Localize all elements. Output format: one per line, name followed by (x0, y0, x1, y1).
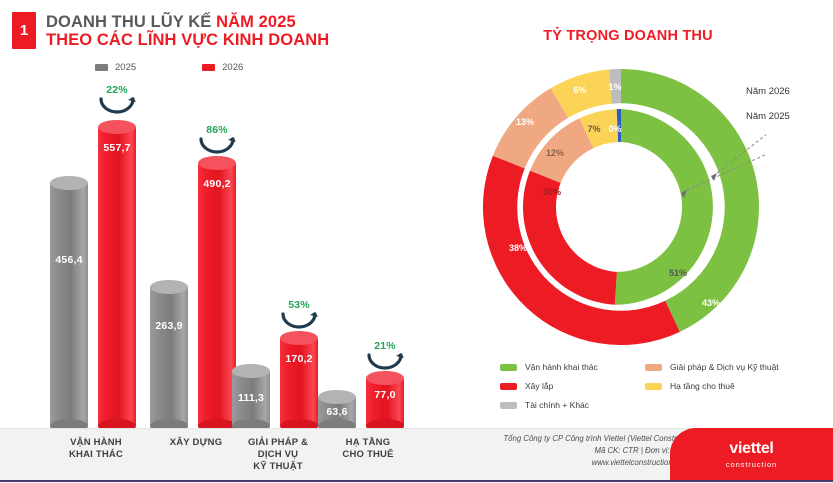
page-title-line2: THEO CÁC LĨNH VỰC KINH DOANH (46, 31, 329, 49)
viettel-construction-logo: viettel construction (670, 428, 833, 482)
inner-label-12: 12% (546, 148, 564, 158)
growth-badge-22: 22% (90, 84, 144, 114)
callout-arrow-outer (711, 173, 717, 181)
outer-label-13: 13% (516, 117, 534, 127)
footer-company-note: Tổng Công ty CP Công trình Viettel (Viet… (410, 433, 700, 469)
outer-label-43: 43% (702, 298, 720, 308)
bar-group-xay-dung: 263,9 490,2 86% (150, 86, 242, 426)
bar-group-ha-tang-cho-thue: 63,6 77,0 21% (318, 86, 410, 426)
donut-chart-legend: Vận hành khai thác Giải pháp & Dịch vụ K… (500, 362, 820, 410)
bar-group-giai-phap-dich-vu: 111,3 170,2 53% (232, 86, 324, 426)
x-label-giai-phap-dich-vu: GIẢI PHÁP &DỊCH VỤKỸ THUẬT (230, 437, 326, 473)
outer-label-1: 1% (608, 82, 621, 92)
x-label-ha-tang-cho-thue: HẠ TẦNGCHO THUÊ (322, 437, 414, 461)
growth-value-22: 22% (90, 84, 144, 96)
callout-label-nam-2025: Năm 2025 (746, 111, 790, 122)
donut-legend-label-xay-lap: Xây lắp (525, 381, 553, 391)
bar-value-456-4: 456,4 (50, 254, 88, 266)
page-title-line1: DOANH THU LŨY KẾ NĂM 2025 (46, 13, 329, 31)
bar-group-van-hanh-khai-thac: 456,4 557,7 22% (50, 86, 142, 426)
inner-label-51: 51% (669, 268, 687, 278)
logo-subtitle: construction (726, 460, 777, 469)
donut-legend-swatch-xay-lap (500, 383, 517, 390)
donut-svg: 43% 38% 13% 6% 1% 51% 30% 12% 7% 0% (476, 62, 766, 352)
bar-2026-xay-dung: 490,2 (198, 156, 236, 426)
donut-legend-label-tai-chinh: Tài chính + Khác (525, 400, 589, 410)
bar-chart-legend: 2025 2026 (95, 62, 243, 73)
title-gray-part: DOANH THU LŨY KẾ (46, 13, 216, 31)
donut-legend-item-ha-tang: Hạ tầng cho thuê (645, 381, 820, 391)
slide-header: 1 DOANH THU LŨY KẾ NĂM 2025 THEO CÁC LĨN… (12, 12, 329, 50)
bar-value-263-9: 263,9 (150, 320, 188, 332)
donut-legend-label-van-hanh: Vận hành khai thác (525, 362, 598, 372)
growth-badge-21: 21% (358, 340, 412, 370)
bar-value-77-0: 77,0 (366, 389, 404, 401)
bar-value-63-6: 63,6 (318, 406, 356, 418)
growth-arrow-icon (279, 312, 319, 329)
bar-2025-giai-phap: 111,3 (232, 364, 270, 426)
legend-label-2025: 2025 (115, 62, 136, 73)
donut-legend-swatch-tai-chinh (500, 402, 517, 409)
bar-2025-ha-tang: 63,6 (318, 390, 356, 426)
bar-2026-giai-phap: 170,2 (280, 331, 318, 426)
donut-legend-swatch-giai-phap (645, 364, 662, 371)
donut-chart-title: TỶ TRỌNG DOANH THU (478, 28, 778, 44)
footer-line-company: Tổng Công ty CP Công trình Viettel (Viet… (410, 433, 700, 445)
growth-arrow-icon (197, 137, 237, 154)
donut-legend-item-giai-phap: Giải pháp & Dịch vụ Kỹ thuật (645, 362, 820, 372)
callout-label-nam-2026: Năm 2026 (746, 86, 790, 97)
growth-arrow-icon (365, 353, 405, 370)
legend-swatch-2025 (95, 64, 108, 71)
bar-value-111-3: 111,3 (232, 392, 270, 404)
legend-item-2026: 2026 (202, 62, 243, 73)
x-label-xay-dung: XÂY DỰNG (150, 437, 242, 449)
bar-value-170-2: 170,2 (280, 353, 318, 365)
revenue-share-donut-chart: 43% 38% 13% 6% 1% 51% 30% 12% 7% 0% (476, 62, 766, 352)
bar-value-490-2: 490,2 (198, 178, 236, 190)
bar-2026-van-hanh: 557,7 (98, 120, 136, 426)
growth-arrow-icon (97, 97, 137, 114)
title-red-part: NĂM 2025 (216, 13, 296, 31)
inner-slice-van-hanh (615, 109, 713, 305)
revenue-bar-chart: 456,4 557,7 22% 263,9 490,2 (22, 86, 422, 426)
title-block: DOANH THU LŨY KẾ NĂM 2025 THEO CÁC LĨNH … (46, 12, 329, 50)
logo-wordmark: viettel (729, 441, 773, 457)
bar-2025-xay-dung: 263,9 (150, 280, 188, 426)
donut-legend-label-ha-tang: Hạ tầng cho thuê (670, 381, 735, 391)
x-axis-labels: VẬN HÀNHKHAI THÁC XÂY DỰNG GIẢI PHÁP &DỊ… (22, 429, 422, 483)
donut-legend-swatch-ha-tang (645, 383, 662, 390)
x-label-van-hanh-khai-thac: VẬN HÀNHKHAI THÁC (50, 437, 142, 461)
donut-legend-swatch-van-hanh (500, 364, 517, 371)
donut-legend-item-xay-lap: Xây lắp (500, 381, 645, 391)
inner-label-7: 7% (587, 124, 600, 134)
footer-line-ticker: Mã CK: CTR | Đơn vị: Tỷ đồng (410, 445, 700, 457)
footer-line-website: www.viettelconstruction.com.vn (410, 457, 700, 469)
legend-item-2025: 2025 (95, 62, 136, 73)
outer-label-38: 38% (509, 243, 527, 253)
section-number-badge: 1 (12, 12, 36, 49)
donut-legend-item-tai-chinh: Tài chính + Khác (500, 400, 645, 410)
outer-label-6: 6% (573, 85, 586, 95)
bar-2026-ha-tang: 77,0 (366, 371, 404, 426)
growth-value-21: 21% (358, 340, 412, 352)
legend-label-2026: 2026 (222, 62, 243, 73)
donut-legend-label-giai-phap: Giải pháp & Dịch vụ Kỹ thuật (670, 362, 779, 372)
bar-value-557-7: 557,7 (98, 142, 136, 154)
legend-swatch-2026 (202, 64, 215, 71)
inner-label-30: 30% (543, 187, 561, 197)
bar-2025-van-hanh: 456,4 (50, 176, 88, 426)
inner-label-0: 0% (608, 124, 621, 134)
slide-canvas: 1 DOANH THU LŨY KẾ NĂM 2025 THEO CÁC LĨN… (0, 0, 833, 482)
donut-legend-item-van-hanh: Vận hành khai thác (500, 362, 645, 372)
